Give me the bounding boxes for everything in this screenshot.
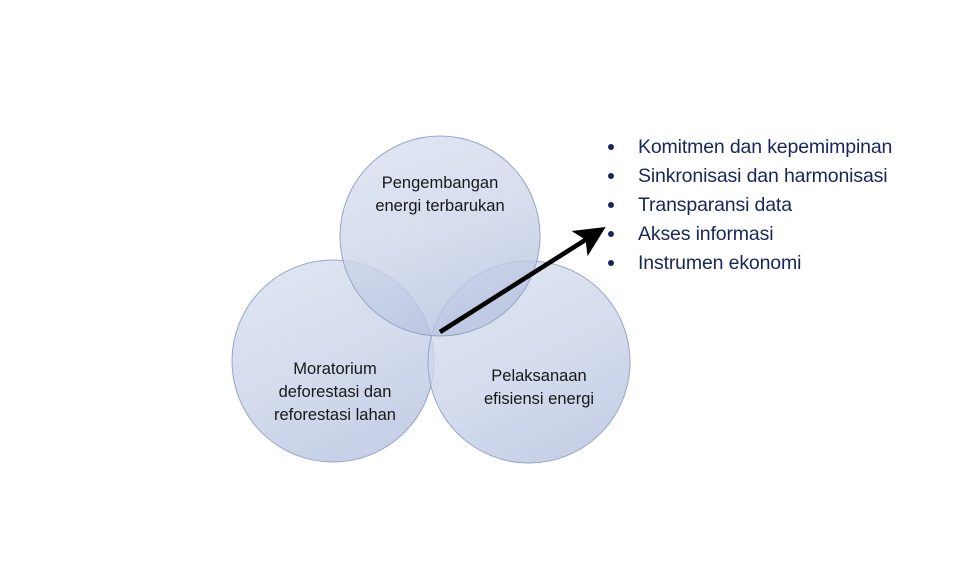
bullet-point-icon [608,144,626,150]
list-item: Akses informasi [608,219,968,248]
venn-circle-top [340,136,540,336]
slide-canvas: Pengembangan energi terbarukan Moratoriu… [0,0,979,568]
bullet-point-icon [608,231,626,237]
bullet-point-icon [608,173,626,179]
list-item-label: Akses informasi [626,223,773,245]
list-item: Komitmen dan kepemimpinan [608,132,968,161]
list-item-label: Instrumen ekonomi [626,252,801,274]
bullet-list: Komitmen dan kepemimpinan Sinkronisasi d… [608,132,968,277]
list-item-label: Sinkronisasi dan harmonisasi [626,165,887,187]
list-item: Transparansi data [608,190,968,219]
list-item-label: Transparansi data [626,194,792,216]
list-item-label: Komitmen dan kepemimpinan [626,136,892,158]
list-item: Instrumen ekonomi [608,248,968,277]
venn-circles [232,136,630,463]
bullet-point-icon [608,202,626,208]
list-item: Sinkronisasi dan harmonisasi [608,161,968,190]
bullet-point-icon [608,260,626,266]
venn-diagram [0,0,979,568]
venn-svg [0,0,979,568]
